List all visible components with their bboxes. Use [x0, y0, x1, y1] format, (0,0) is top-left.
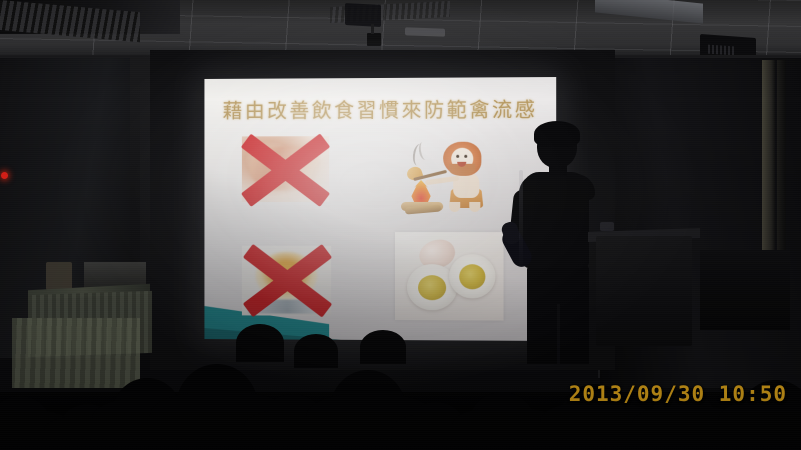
caveman-eye-right	[464, 155, 467, 158]
egg-yolk-left	[418, 275, 446, 300]
presenter-hair	[534, 121, 580, 147]
slide-title: 藉由改善飲食習慣來防範禽流感	[204, 93, 556, 124]
caveman-cooking-cartoon	[399, 140, 495, 216]
lectern	[596, 236, 692, 346]
microphone-icon	[600, 222, 614, 231]
raw-egg-photo	[242, 246, 331, 316]
hard-boiled-egg-photo	[395, 232, 504, 321]
egg-half-right	[449, 254, 495, 298]
caveman-leg-right	[469, 202, 480, 212]
lecture-hall-photograph: 藉由改善飲食習慣來防範禽流感	[0, 0, 801, 450]
projector-icon	[367, 33, 381, 46]
ceiling-light-fixture-small	[405, 27, 445, 36]
wall-curtain	[12, 318, 140, 388]
red-indicator-led-icon	[1, 172, 8, 179]
camera-timestamp: 2013/09/30 10:50	[569, 382, 787, 406]
presenter-leg-split	[557, 304, 560, 364]
raw-poultry-photo	[242, 136, 329, 202]
presenter-rim-light	[519, 170, 523, 270]
egg-yolk-right	[459, 264, 485, 289]
caveman-leg-left	[449, 202, 460, 212]
table-item-box	[46, 262, 72, 290]
projected-slide: 藉由改善飲食習慣來防範禽流感	[204, 77, 556, 341]
ceiling-speaker-icon	[345, 3, 381, 27]
caveman-eye-left	[456, 155, 459, 158]
right-equipment	[700, 250, 790, 330]
